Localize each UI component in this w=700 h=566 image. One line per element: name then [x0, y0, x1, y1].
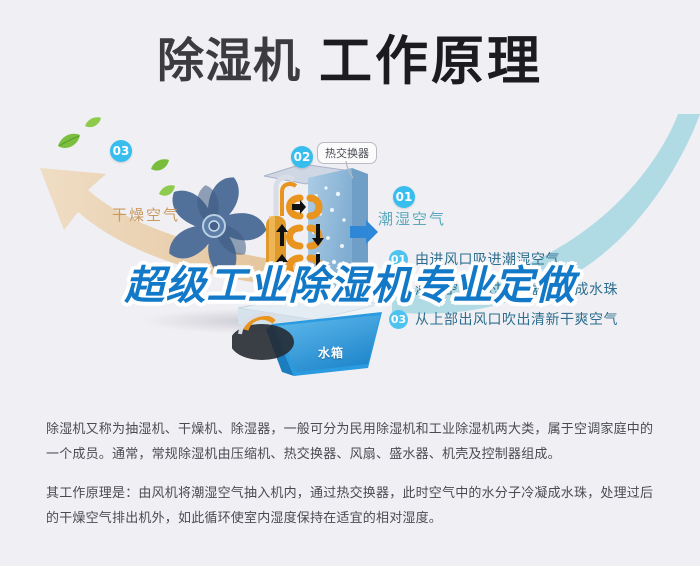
poster-root: 除湿机 工作原理	[0, 0, 700, 566]
leaf-icon	[56, 132, 82, 152]
body-copy: 除湿机又称为抽湿机、干燥机、除湿器，一般可分为民用除湿机和工业除湿机两大类，属于…	[46, 417, 660, 531]
diagram-badge-03: 03	[110, 140, 132, 162]
diagram-badge-02: 02	[291, 146, 313, 168]
dry-air-label: 干燥空气	[112, 204, 180, 225]
overlay-headline-wrap: 超级工业除湿机专业定做	[0, 266, 700, 306]
page-title: 除湿机 工作原理	[0, 18, 700, 104]
body-paragraph-1: 除湿机又称为抽湿机、干燥机、除湿器，一般可分为民用除湿机和工业除湿机两大类，属于…	[46, 417, 660, 467]
step-badge-03: 03	[389, 310, 408, 329]
step-text-03: 从上部出风口吹出清新干爽空气	[415, 309, 618, 329]
leaf-icon	[84, 116, 102, 130]
water-tank-label: 水箱	[318, 344, 344, 361]
overlay-headline: 超级工业除湿机专业定做	[125, 266, 576, 306]
callout-stem	[344, 161, 354, 179]
page-title-primary: 除湿机	[157, 38, 301, 85]
page-title-secondary: 工作原理	[319, 35, 543, 88]
body-paragraph-2: 其工作原理是：由风机将潮湿空气抽入机内，通过热交换器，此时空气中的水分子冷凝成水…	[46, 481, 660, 531]
humid-air-label: 潮湿空气	[378, 208, 446, 229]
diagram-badge-01: 01	[393, 186, 415, 208]
